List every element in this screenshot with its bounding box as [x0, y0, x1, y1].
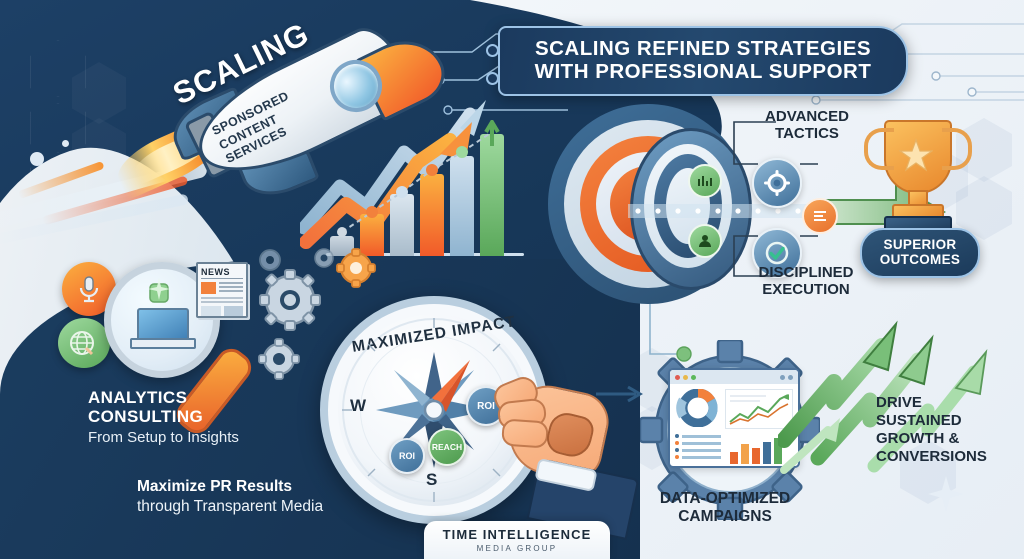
infographic-canvas: SCALING REFINED STRATEGIES WITH PROFESSI… [0, 0, 1024, 559]
analytics-consulting-label: ANALYTICS CONSULTING From Setup to Insig… [88, 388, 298, 446]
gear-icon-small-orange [337, 249, 375, 287]
badge-reach[interactable]: REACH [428, 428, 466, 466]
analytics-title-line-2: CONSULTING [88, 407, 298, 426]
star-icon [899, 138, 933, 172]
badge-roi-lower[interactable]: ROI [389, 438, 425, 474]
drive-line-1: DRIVE [876, 394, 1022, 412]
badge-roi-lower-label: ROI [399, 451, 415, 461]
header-banner: SCALING REFINED STRATEGIES WITH PROFESSI… [498, 26, 908, 96]
globe-icon [68, 328, 100, 358]
header-line-1: SCALING REFINED STRATEGIES [535, 38, 871, 61]
drive-line-4: CONVERSIONS [876, 448, 1022, 466]
globe-badge [58, 318, 110, 368]
header-line-2: WITH PROFESSIONAL SUPPORT [535, 61, 872, 84]
logo-line-2: MEDIA GROUP [477, 544, 558, 553]
dashboard-list [675, 434, 721, 464]
badge-reach-label: REACH [432, 442, 462, 452]
disciplined-line-1: DISCIPLINED [726, 264, 886, 281]
superior-line-1: SUPERIOR [884, 238, 957, 253]
logo-line-1: TIME INTELLIGENCE [443, 527, 592, 542]
news-label: NEWS [201, 267, 243, 279]
analytics-title-line-1: ANALYTICS [88, 388, 298, 407]
sparkle-icon [926, 474, 966, 514]
superior-outcomes-badge: SUPERIOR OUTCOMES [860, 228, 980, 278]
data-line-2: CAMPAIGNS [620, 508, 830, 526]
footer-logo: TIME INTELLIGENCE MEDIA GROUP [424, 521, 610, 559]
donut-chart [675, 389, 721, 427]
bar-chart [326, 120, 526, 256]
advanced-line-1: ADVANCED [732, 108, 882, 125]
analytics-subtitle: From Setup to Insights [88, 429, 298, 446]
gear-icon-lower [256, 336, 302, 382]
drive-line-3: GROWTH & [876, 430, 1022, 448]
sparkle-node-icon [142, 276, 176, 310]
gear-icon [260, 270, 320, 330]
drive-growth-label: DRIVE SUSTAINED GROWTH & CONVERSIONS [876, 394, 1022, 466]
advanced-tactics-label: ADVANCED TACTICS [732, 108, 882, 143]
trophy-icon [868, 120, 964, 238]
laptop-icon [130, 308, 192, 348]
arrow-into-gear [596, 382, 656, 406]
drive-line-2: SUSTAINED [876, 412, 1022, 430]
gear-icon-tiny [315, 249, 333, 267]
microphone-icon [76, 274, 102, 304]
newspaper-icon: NEWS [196, 262, 248, 318]
superior-line-2: OUTCOMES [880, 253, 960, 268]
banner-connector-node-1 [486, 44, 499, 57]
data-optimized-campaigns-label: DATA-OPTIMIZED CAMPAIGNS [620, 490, 830, 526]
data-line-1: DATA-OPTIMIZED [620, 490, 830, 508]
gear-icon-small-blue [260, 250, 280, 270]
advanced-line-2: TACTICS [732, 125, 882, 142]
